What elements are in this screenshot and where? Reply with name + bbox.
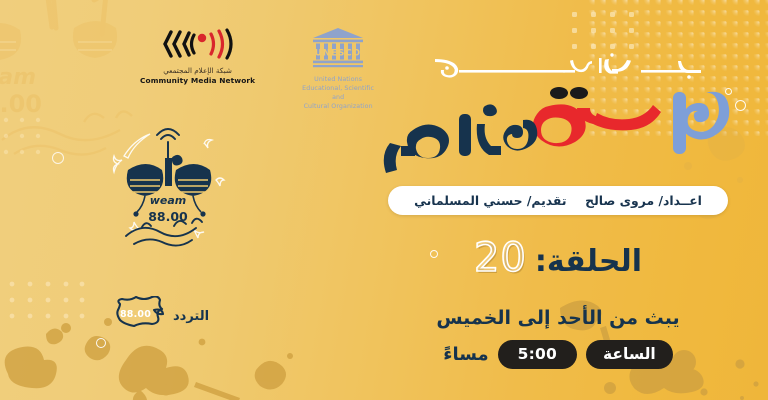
time-period: مساءً <box>443 344 488 365</box>
credits-pill: اعــداد/ مروى صالح تقديم/ حسني المسلماني <box>388 186 728 215</box>
frequency-value: 88.00 <box>120 309 151 320</box>
dot-grid-decoration <box>8 280 86 322</box>
hour-label-badge: الساعة <box>586 340 673 369</box>
broadcast-schedule: يبث من الأحد إلى الخميس <box>436 307 679 329</box>
title-letter-waw <box>681 92 729 140</box>
frequency-bubble: 88.00 <box>112 296 166 336</box>
ring-accent-decoration <box>96 338 106 348</box>
cmn-name-english: Community Media Network <box>140 76 255 85</box>
credits-prepared-name: مروى صالح <box>585 193 654 208</box>
program-poster: weam 88.00 <box>0 0 768 400</box>
title-word-wiam <box>384 104 538 173</box>
svg-text:weam: weam <box>0 65 36 90</box>
program-title <box>373 84 743 180</box>
episode-label: الحلقة: <box>535 244 642 279</box>
credits-presented-name: حسني المسلماني <box>414 193 522 208</box>
title-letters-haa-taa <box>533 104 661 146</box>
ring-accent-decoration <box>52 152 64 164</box>
dot-grid-decoration <box>2 116 44 156</box>
cmn-name-arabic: شبكة الإعلام المجتمعي <box>163 66 232 75</box>
credits-presented-label: تقديم/ <box>527 193 567 208</box>
episode-row: الحلقة: 20 <box>474 235 642 281</box>
main-content: اعــداد/ مروى صالح تقديم/ حسني المسلماني… <box>348 0 768 400</box>
time-badge: 5:00 <box>498 340 577 369</box>
stamp-latin-name: weam <box>150 194 187 207</box>
logo-community-media-network: شبكة الإعلام المجتمعي Community Media Ne… <box>140 26 255 85</box>
broadcast-waves-icon <box>161 26 235 62</box>
title-taa-marbuta-dots <box>550 87 588 99</box>
title-letter-alef <box>673 92 686 154</box>
frequency-callout: التردد 88.00 <box>112 296 209 336</box>
frequency-label: التردد <box>173 309 209 324</box>
logo-row: شبكة الإعلام المجتمعي Community Media Ne… <box>140 26 381 112</box>
program-kicker <box>413 52 703 82</box>
episode-number: 20 <box>474 235 527 281</box>
svg-text:88.00: 88.00 <box>0 90 42 118</box>
credits-prepared-label: اعــداد/ <box>658 193 701 208</box>
weam-station-logo: weam 88.00 <box>108 126 228 248</box>
broadcast-time-row: الساعة 5:00 مساءً <box>443 340 673 369</box>
